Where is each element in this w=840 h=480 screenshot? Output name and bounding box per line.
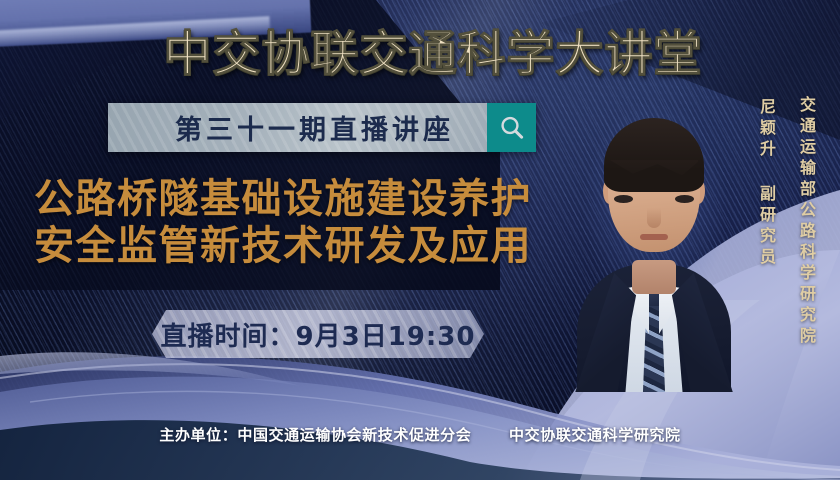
footer: 主办单位：中国交通运输协会新技术促进分会 中交协联交通科学研究院 (0, 424, 840, 445)
subtitle-bar: 第三十一期直播讲座 (108, 103, 536, 152)
subtitle-bar-body: 第三十一期直播讲座 (108, 103, 487, 152)
photo-neck (632, 260, 676, 294)
promo-banner: 中交协联交通科学大讲堂 第三十一期直播讲座 公路桥隧基础设施建设养护 安全监管新… (0, 0, 840, 480)
search-button[interactable] (487, 103, 536, 152)
speaker-photo (575, 92, 733, 392)
headline-line-1: 公路桥隧基础设施建设养护 (34, 176, 594, 223)
live-time-badge: 直播时间：9月3日19:30 (152, 310, 484, 358)
headline-line-2: 安全监管新技术研发及应用 (34, 223, 594, 270)
footer-co-host: 中交协联交通科学研究院 (509, 426, 681, 444)
photo-eye-left (614, 195, 633, 203)
headline: 公路桥隧基础设施建设养护 安全监管新技术研发及应用 (34, 176, 594, 270)
live-time-label: 直播时间：9月3日19:30 (161, 316, 476, 353)
photo-mouth (640, 234, 668, 240)
photo-eye-right (675, 195, 694, 203)
photo-nose (647, 208, 661, 228)
subtitle-label: 第三十一期直播讲座 (141, 108, 454, 147)
search-icon (497, 113, 527, 143)
speaker-organization: 交通运输部公路科学研究院 (794, 96, 818, 348)
footer-host: 主办单位：中国交通运输协会新技术促进分会 (159, 426, 471, 444)
speaker-name: 尼颖升 副研究员 (754, 98, 778, 269)
page-title: 中交协联交通科学大讲堂 (0, 14, 840, 84)
